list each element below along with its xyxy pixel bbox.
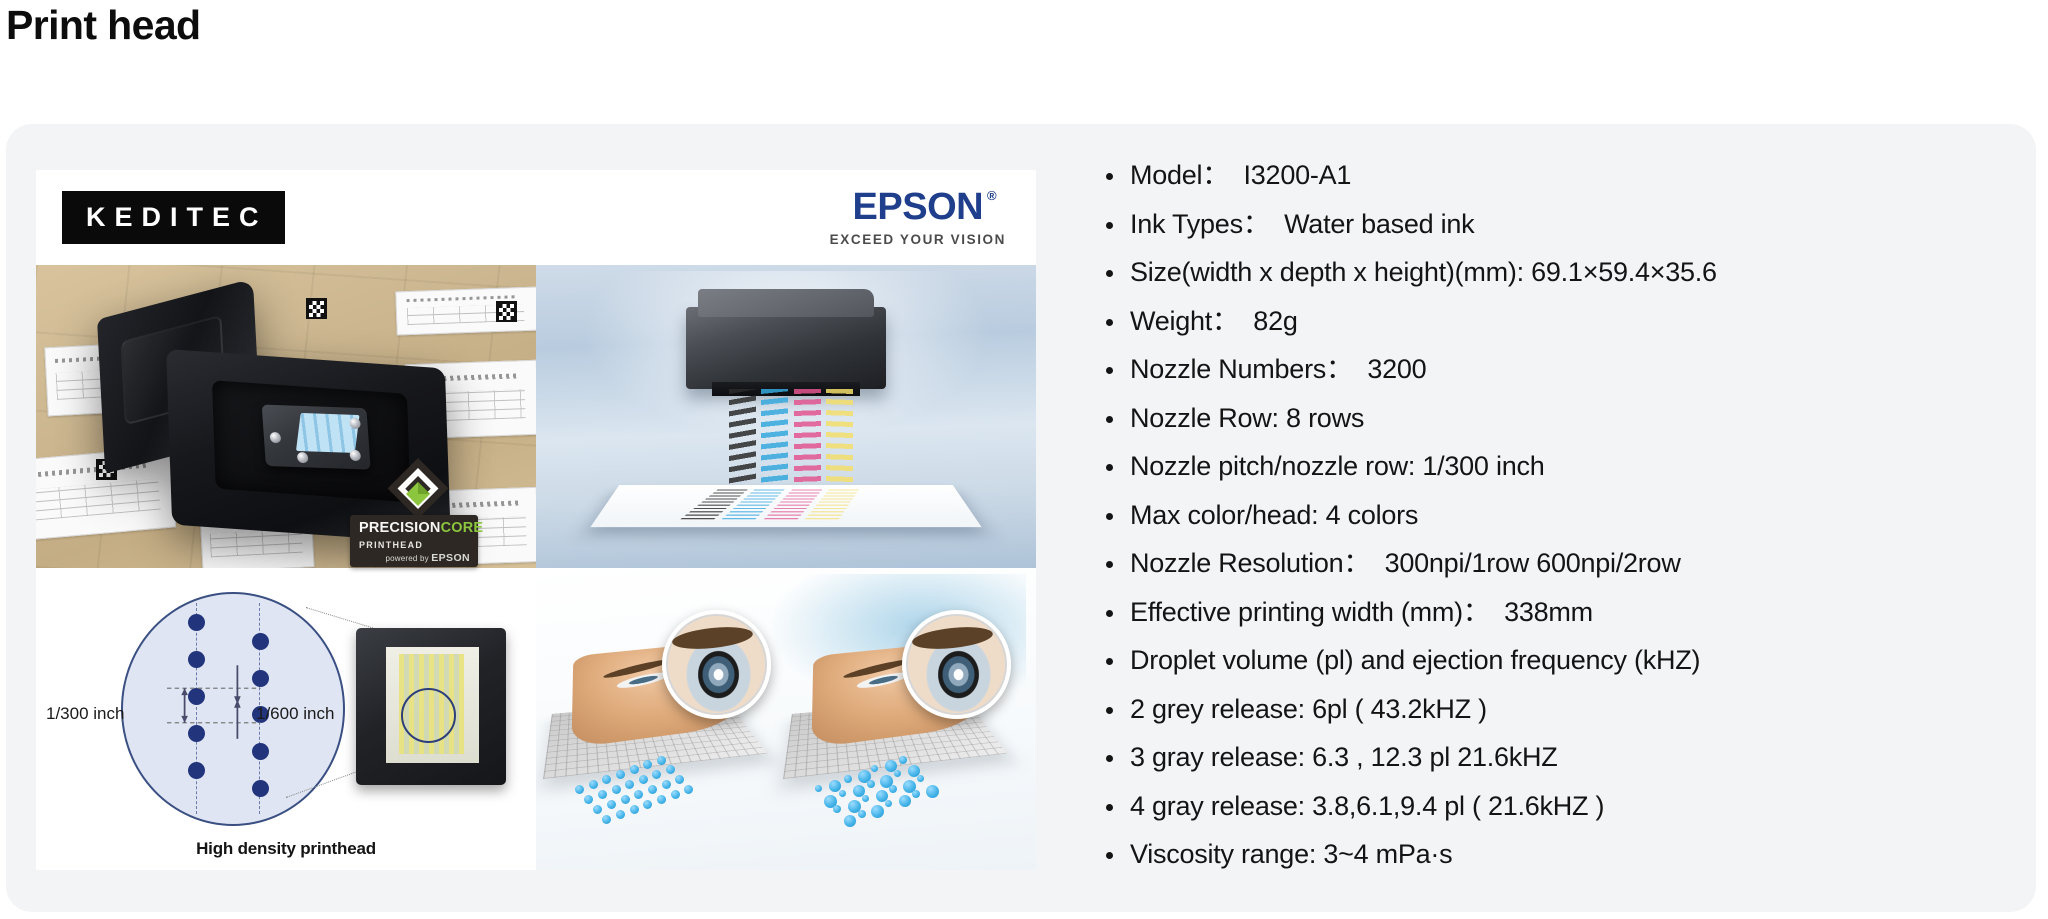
spec-item: Viscosity range: 3~4 mPa·s xyxy=(1098,841,1996,868)
specifications-list: Model： I3200-A1 Ink Types： Water based i… xyxy=(1098,162,1996,868)
print-head-card: KEDITEC EPSON® EXCEED YOUR VISION xyxy=(6,124,2036,912)
illustration-droplet-quality-comparison xyxy=(536,568,1036,871)
droplet-grid-uniform xyxy=(569,734,721,817)
precisioncore-title: PRECISIONCORE xyxy=(359,521,470,536)
droplet-grid-variable xyxy=(809,734,961,817)
spec-item: Max color/head: 4 colors xyxy=(1098,502,1996,529)
specifications-panel: Model： I3200-A1 Ink Types： Water based i… xyxy=(1036,124,2036,890)
ink-spray-black xyxy=(729,389,756,486)
screw-icon xyxy=(350,451,362,462)
spec-item: Nozzle Resolution： 300npi/1row 600npi/2r… xyxy=(1098,550,1996,577)
tray-well xyxy=(212,380,411,502)
printhead-device-photo xyxy=(356,628,506,785)
screw-icon xyxy=(270,432,282,443)
spec-item: 4 gray release: 3.8,6.1,9.4 pl ( 21.6kHZ… xyxy=(1098,793,1996,820)
ink-spray-magenta xyxy=(794,389,821,486)
registered-mark-icon: ® xyxy=(987,189,996,202)
keditec-logo: KEDITEC xyxy=(62,191,285,244)
magnifier-loupe xyxy=(902,610,1011,719)
ink-spray-cyan xyxy=(761,389,788,486)
precisioncore-title-white: PRECISION xyxy=(359,520,441,536)
printhead-unit xyxy=(262,405,371,470)
screw-icon xyxy=(349,418,361,429)
spec-item: Effective printing width (mm)： 338mm xyxy=(1098,599,1996,626)
spec-item: Nozzle pitch/nozzle row: 1/300 inch xyxy=(1098,453,1996,480)
diagram-nozzle-density: 1/300 inch 1/600 inch High density print… xyxy=(36,568,536,871)
spec-item: Weight： 82g xyxy=(1098,308,1996,335)
label-nozzle-pitch-600: 1/600 inch xyxy=(256,704,334,724)
product-composite-image: KEDITEC EPSON® EXCEED YOUR VISION xyxy=(36,170,1036,870)
ink-spray-yellow xyxy=(826,389,853,486)
powered-by-brand: EPSON xyxy=(431,552,470,564)
nozzle-diagram-caption: High density printhead xyxy=(36,839,536,859)
magnifier-loupe xyxy=(662,610,771,719)
spec-item: Nozzle Numbers： 3200 xyxy=(1098,356,1996,383)
epson-wordmark-text: EPSON xyxy=(853,186,984,228)
page-title: Print head xyxy=(0,0,2048,47)
epson-tagline: EXCEED YOUR VISION xyxy=(830,232,1006,247)
spec-item: Ink Types： Water based ink xyxy=(1098,211,1996,238)
spec-item: 2 grey release: 6pl ( 43.2kHZ ) xyxy=(1098,696,1996,723)
spec-item: Size(width x depth x height)(mm): 69.1×5… xyxy=(1098,259,1996,286)
spec-item: Droplet volume (pl) and ejection frequen… xyxy=(1098,647,1996,674)
comparison-sample-right xyxy=(786,610,1016,840)
powered-by-text: powered by xyxy=(385,554,428,563)
precisioncore-diamond-icon xyxy=(386,457,450,521)
epson-logo: EPSON® EXCEED YOUR VISION xyxy=(830,188,1010,247)
spec-item: Model： I3200-A1 xyxy=(1098,162,1996,189)
paper-sheet xyxy=(590,485,981,527)
cg-printhead-model xyxy=(686,307,886,389)
brand-strip: KEDITEC EPSON® EXCEED YOUR VISION xyxy=(36,170,1036,265)
precisioncore-title-green: CORE xyxy=(441,520,484,536)
spec-item: Nozzle Row: 8 rows xyxy=(1098,405,1996,432)
comparison-sample-left xyxy=(546,610,776,840)
image-quadrants: 1/300 inch 1/600 inch High density print… xyxy=(36,265,1036,870)
label-nozzle-pitch-300: 1/300 inch xyxy=(46,704,124,724)
precisioncore-badge: PRECISIONCORE PRINTHEAD powered by EPSON xyxy=(350,515,478,567)
illustration-cmyk-spray xyxy=(536,265,1036,568)
epson-wordmark: EPSON® xyxy=(853,188,984,226)
precisioncore-powered-by: powered by EPSON xyxy=(359,552,470,564)
device-focus-ring xyxy=(401,688,456,743)
spec-item: 3 gray release: 6.3 , 12.3 pl 21.6kHZ xyxy=(1098,744,1996,771)
qr-code-icon xyxy=(496,301,517,322)
precisioncore-subtitle: PRINTHEAD xyxy=(359,540,470,550)
screw-icon xyxy=(297,453,309,464)
